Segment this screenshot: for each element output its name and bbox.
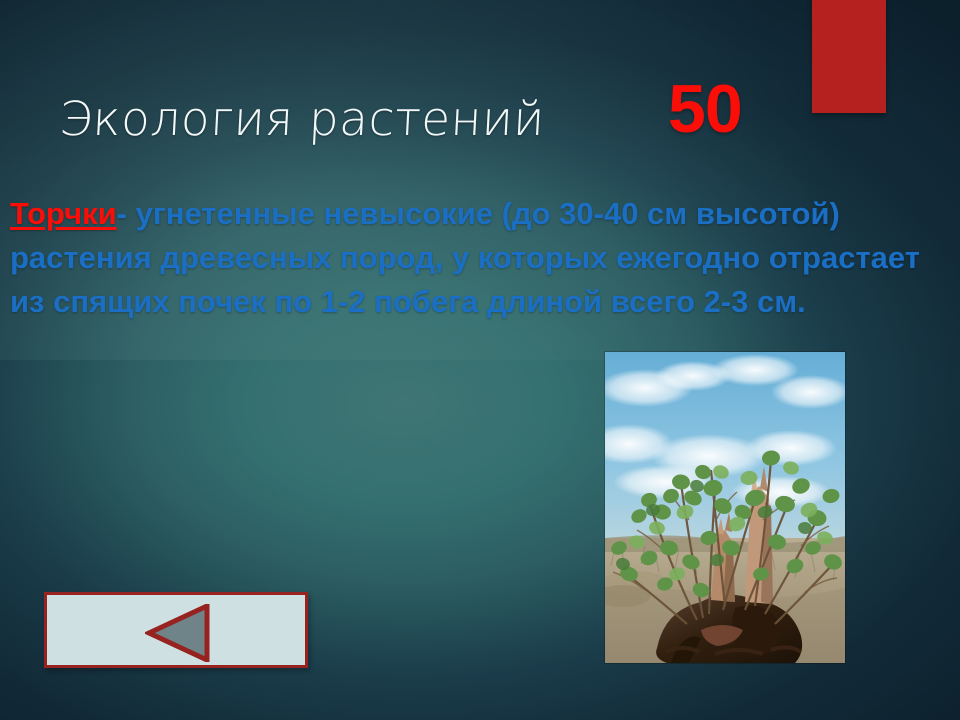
plant-photo-image: [605, 352, 845, 663]
definition-text: Торчки- угнетенные невысокие (до 30-40 с…: [10, 192, 940, 324]
plant-photo: [605, 352, 845, 663]
triangle-left-icon[interactable]: [145, 604, 213, 662]
definition-term: Торчки: [10, 196, 117, 231]
definition-body: - угнетенные невысокие (до 30-40 см высо…: [10, 196, 920, 319]
red-accent-block: [812, 0, 886, 113]
page-title: Экология растений: [58, 94, 546, 147]
back-button[interactable]: [44, 592, 308, 668]
points-value: 50: [668, 75, 742, 143]
slide: Экология растений 50 Торчки- угнетенные …: [0, 0, 960, 720]
